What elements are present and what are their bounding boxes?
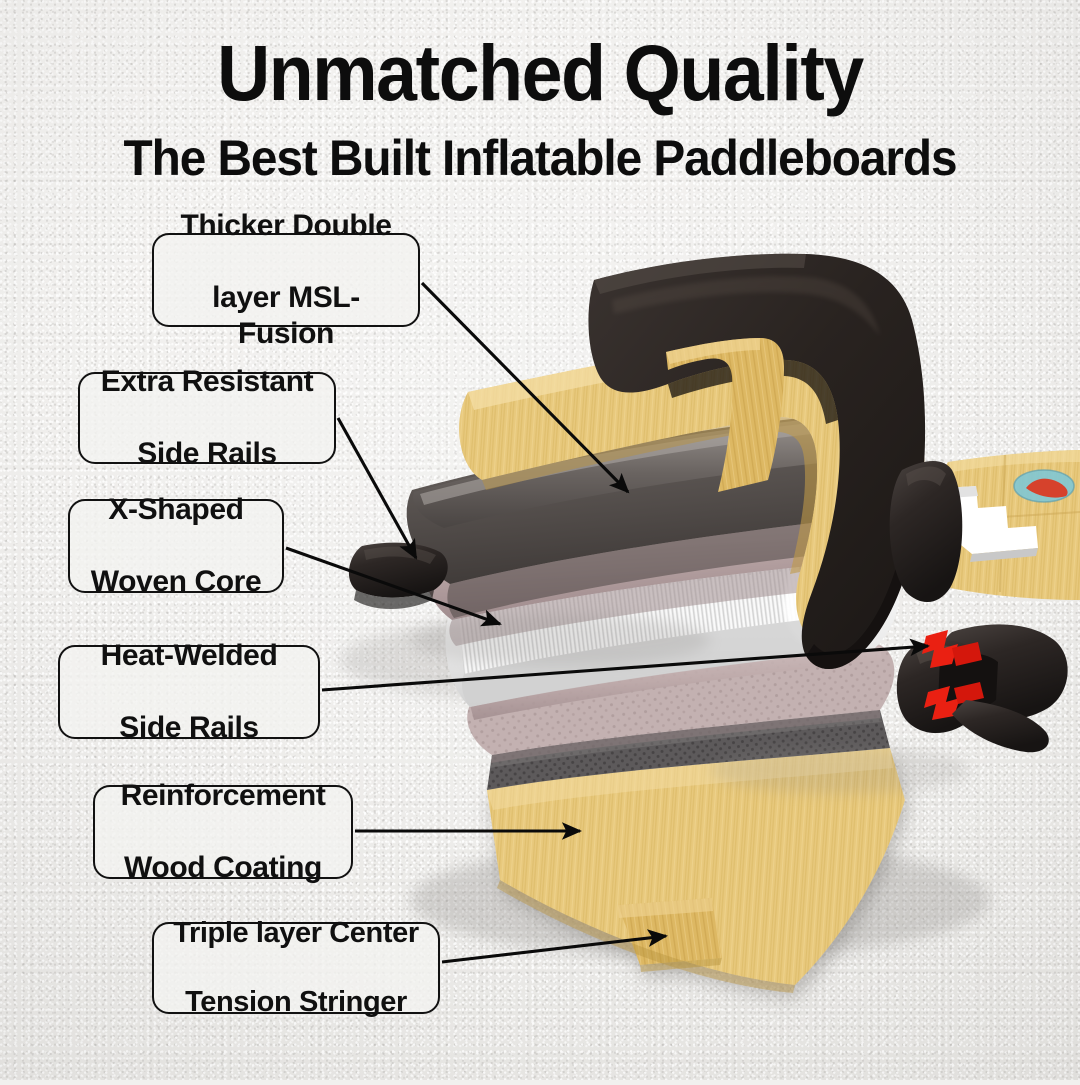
callout-triple-layer-center-tension-stringer[interactable]: Triple layer Center Tension Stringer — [152, 922, 440, 1014]
callout-line-1: Extra Resistant — [93, 364, 321, 400]
callout-label: Heat-Welded Side Rails — [85, 638, 294, 746]
callout-line-1: X-Shaped — [83, 492, 269, 528]
callout-heat-welded-side-rails[interactable]: Heat-Welded Side Rails — [58, 645, 320, 739]
callout-line-1: Heat-Welded — [93, 638, 286, 674]
callout-line-2: Tension Stringer — [165, 985, 426, 1020]
callout-line-2: Side Rails — [93, 436, 321, 472]
callout-label: Thicker Double layer MSL-Fusion — [154, 208, 418, 352]
callout-line-1: Triple layer Center — [165, 916, 426, 951]
page-subtitle: The Best Built Inflatable Paddleboards — [24, 133, 1055, 183]
callout-thicker-double-layer[interactable]: Thicker Double layer MSL-Fusion — [152, 233, 420, 327]
side-rail-heat-welded — [897, 624, 1068, 752]
callout-line-2: Woven Core — [83, 564, 269, 600]
callout-label: Triple layer Center Tension Stringer — [157, 916, 434, 1020]
callout-label: X-Shaped Woven Core — [75, 492, 277, 600]
callout-reinforcement-wood-coating[interactable]: Reinforcement Wood Coating — [93, 785, 353, 879]
callout-line-1: Reinforcement — [113, 778, 334, 814]
callout-label: Extra Resistant Side Rails — [85, 364, 329, 472]
page-title: Unmatched Quality — [38, 33, 1042, 112]
callout-line-2: Wood Coating — [113, 850, 334, 886]
callout-x-shaped-woven-core[interactable]: X-Shaped Woven Core — [68, 499, 284, 593]
callout-line-1: Thicker Double — [162, 208, 410, 244]
callout-label: Reinforcement Wood Coating — [105, 778, 342, 886]
callout-line-2: Side Rails — [93, 710, 286, 746]
brand-logo — [1014, 470, 1074, 502]
callout-line-2: layer MSL-Fusion — [162, 280, 410, 352]
header: Unmatched Quality The Best Built Inflata… — [0, 0, 1080, 183]
callout-extra-resistant-side-rails[interactable]: Extra Resistant Side Rails — [78, 372, 336, 464]
right-deck-panel — [890, 450, 1080, 602]
